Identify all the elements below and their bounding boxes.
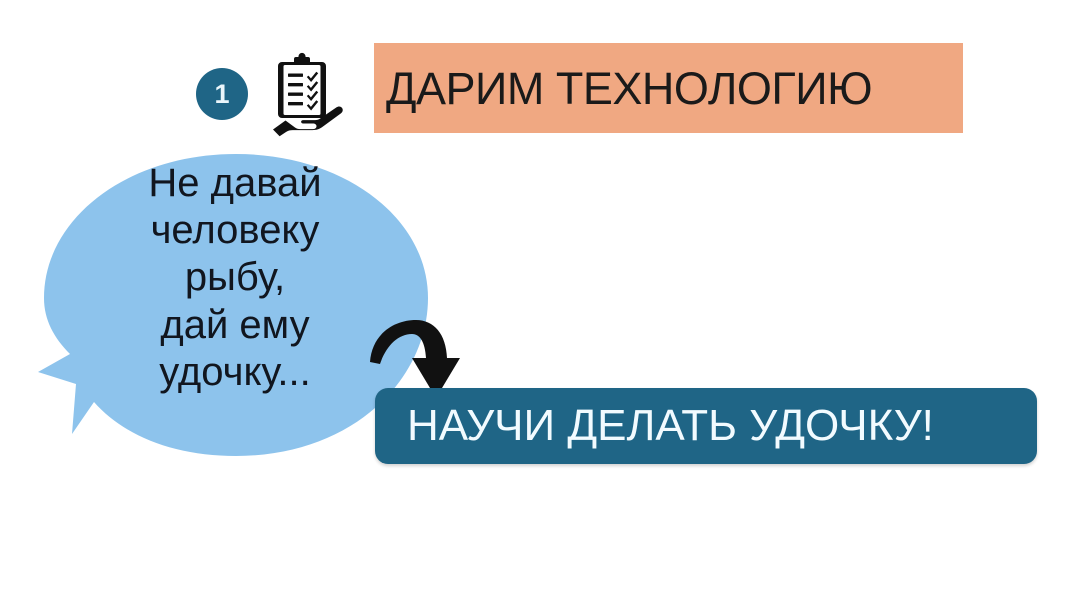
clipboard-checklist-on-hand-icon [268, 52, 346, 138]
page-title: ДАРИМ ТЕХНОЛОГИЮ [374, 66, 872, 111]
step-number-badge: 1 [196, 68, 248, 120]
callout-text: НАУЧИ ДЕЛАТЬ УДОЧКУ! [375, 404, 934, 448]
slide-canvas: 1 [0, 0, 1067, 600]
header-banner: ДАРИМ ТЕХНОЛОГИЮ [374, 43, 963, 133]
step-number-label: 1 [214, 81, 229, 108]
callout-banner: НАУЧИ ДЕЛАТЬ УДОЧКУ! [375, 388, 1037, 464]
